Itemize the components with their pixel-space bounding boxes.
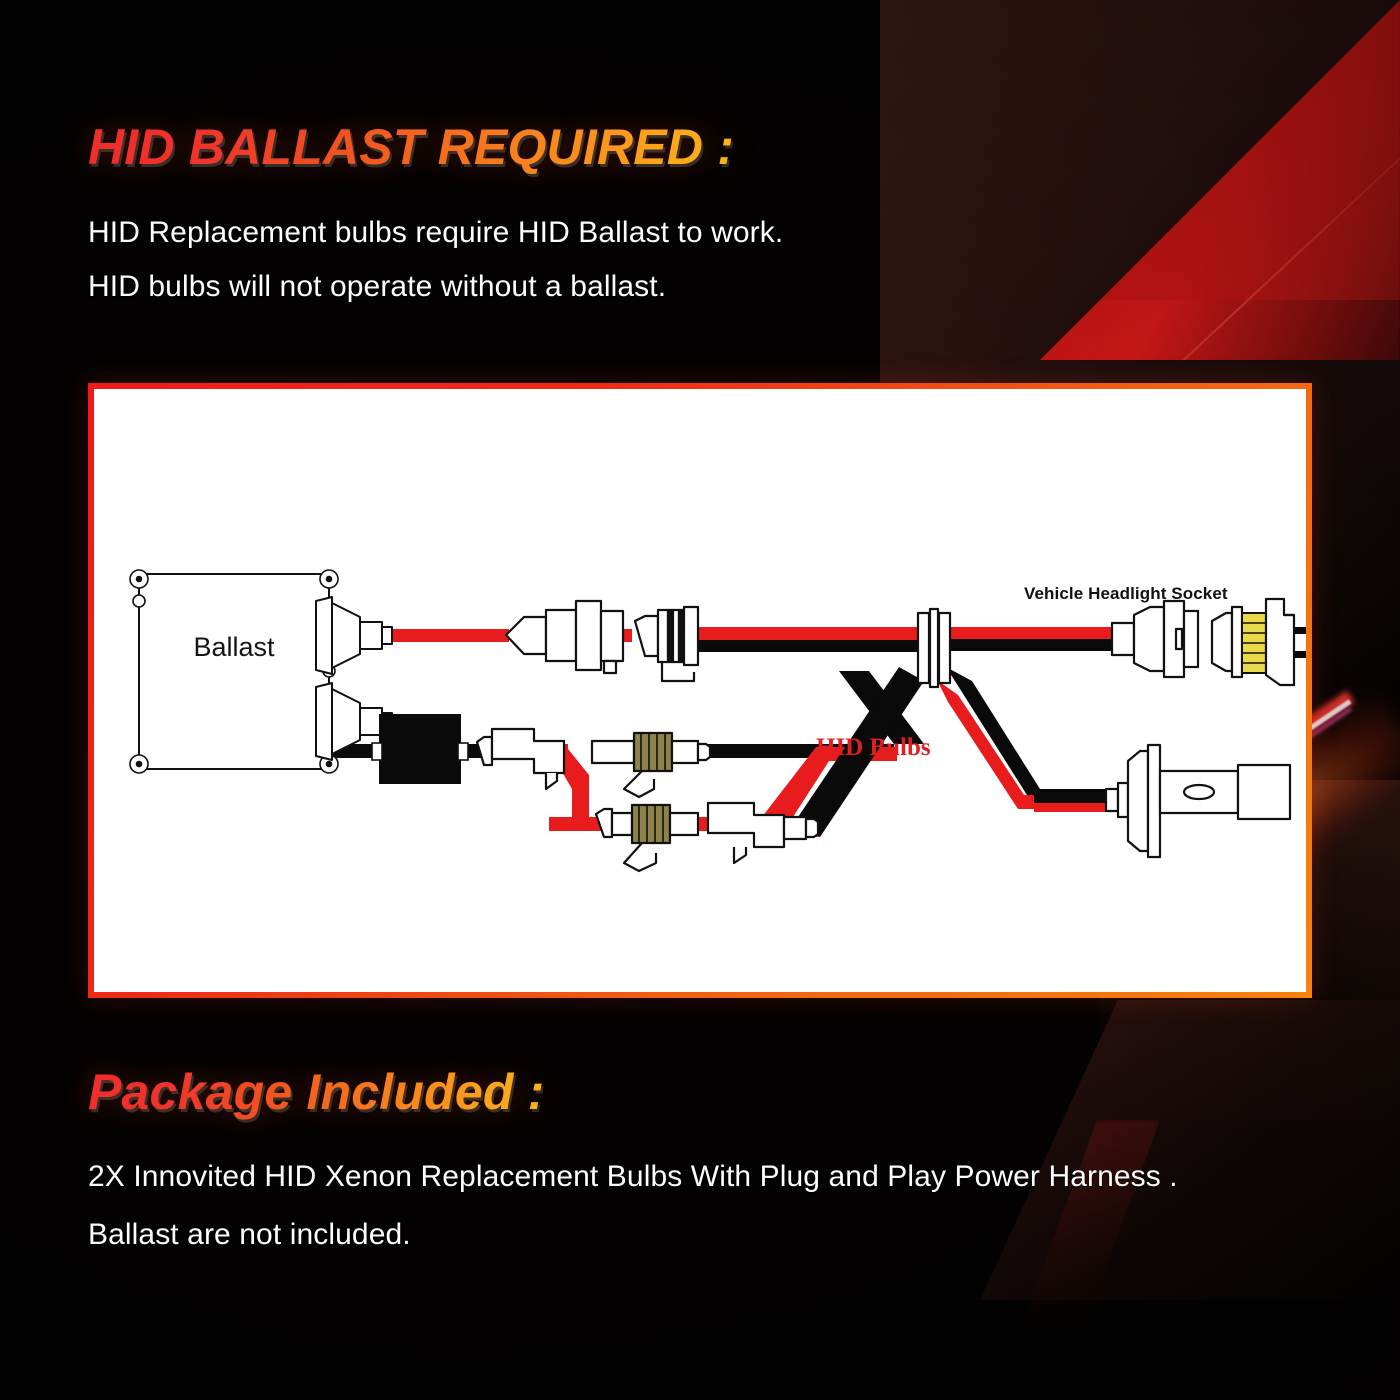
socket-gold-contacts	[1242, 613, 1266, 673]
hid-ballast-required-line-1: HID Replacement bulbs require HID Ballas…	[88, 216, 783, 250]
spade-connector-male-lower	[596, 805, 698, 871]
package-included-line-1: 2X Innovited HID Xenon Replacement Bulbs…	[88, 1160, 1178, 1194]
harness-split-sleeve	[918, 609, 950, 687]
wire-red-to-plug	[942, 627, 1117, 639]
wiring-diagram-panel: Ballast HID Bulbs Vehicle Headlight Sock…	[88, 383, 1312, 998]
harness-headlight-plug	[1112, 601, 1198, 677]
hid-ballast-required-heading: HID BALLAST REQUIRED :	[88, 118, 734, 176]
wire-black-to-plug	[942, 639, 1117, 651]
wire-red-bulb-lead	[1034, 803, 1109, 812]
spade-connector-female-upper	[477, 729, 564, 789]
wiring-diagram-illustration	[94, 389, 1306, 992]
hid-ballast-required-line-2: HID bulbs will not operate without a bal…	[88, 270, 666, 304]
vehicle-headlight-socket-label: Vehicle Headlight Socket	[1024, 584, 1228, 604]
package-included-line-2: Ballast are not included.	[88, 1218, 411, 1252]
wire-red-lower-left	[549, 817, 604, 831]
ballast-label: Ballast	[154, 632, 314, 663]
page-root: HID BALLAST REQUIRED : HID Replacement b…	[0, 0, 1400, 1400]
wire-black-bulb-lead	[1034, 789, 1109, 803]
ferrule-gold-lower	[632, 805, 670, 843]
spade-connector-male-upper	[592, 733, 710, 797]
wiring-diagram-canvas: Ballast HID Bulbs Vehicle Headlight Sock…	[94, 389, 1306, 992]
socket-wire-top	[1294, 627, 1306, 634]
hid-bulbs-label: HID Bulbs	[816, 734, 931, 762]
barrel-connector-male	[506, 601, 623, 673]
ferrule-gold-upper	[634, 733, 672, 771]
barrel-connector-female	[635, 607, 698, 681]
hid-bulb	[1106, 745, 1290, 857]
ballast-output-connector-top	[316, 597, 392, 674]
package-included-heading: Package Included :	[88, 1063, 545, 1121]
ballast-box	[139, 574, 329, 769]
socket-wire-bottom	[1294, 651, 1306, 658]
vehicle-headlight-socket	[1212, 599, 1306, 685]
